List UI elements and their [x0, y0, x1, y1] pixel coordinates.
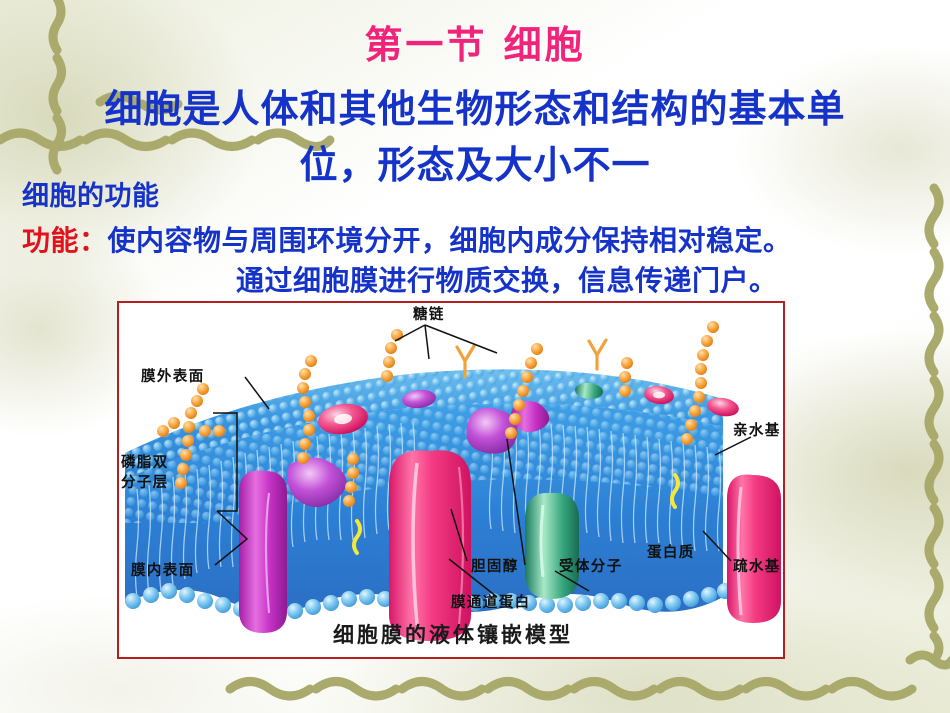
label-phospholipid-bilayer-line2: 分子层	[121, 474, 169, 491]
membrane-protein-green	[525, 493, 579, 599]
membrane-diagram-frame: 膜外表面 磷脂双 分子层 膜内表面 糖链 亲水基 疏水基 胆固醇 受体分子 蛋白…	[117, 301, 785, 659]
body-line-1-text: 使内容物与周围环境分开，细胞内成分保持相对稳定。	[108, 224, 792, 257]
label-glycan-chain: 糖链	[413, 305, 445, 323]
label-inner-surface: 膜内表面	[131, 561, 195, 579]
body-line-2: 通过细胞膜进行物质交换，信息传递门户。	[236, 259, 778, 299]
membrane-channel-protein	[389, 450, 471, 641]
membrane-channel-protein-right	[727, 475, 781, 624]
label-protein: 蛋白质	[647, 543, 695, 561]
body-label: 功能：	[22, 224, 108, 257]
label-cholesterol: 胆固醇	[471, 557, 519, 575]
label-receptor-molecule: 受体分子	[559, 557, 623, 575]
figure-caption: 细胞膜的液体镶嵌模型	[119, 619, 787, 649]
section-heading: 细胞的功能	[22, 174, 160, 213]
label-outer-surface: 膜外表面	[141, 367, 205, 385]
label-hydrophilic-group: 亲水基	[733, 421, 781, 439]
fluid-mosaic-membrane-illustration: 膜外表面 磷脂双 分子层 膜内表面 糖链 亲水基 疏水基 胆固醇 受体分子 蛋白…	[119, 303, 783, 657]
bamboo-decoration-bottom	[228, 667, 918, 707]
label-membrane-channel-protein: 膜通道蛋白	[451, 593, 531, 611]
body-line-1: 功能：使内容物与周围环境分开，细胞内成分保持相对稳定。	[22, 219, 792, 259]
page-title: 第一节 细胞	[0, 14, 950, 69]
slide-canvas: 第一节 细胞 细胞是人体和其他生物形态和结构的基本单 位，形态及大小不一 细胞的…	[0, 0, 950, 713]
subtitle-line-1: 细胞是人体和其他生物形态和结构的基本单	[0, 78, 950, 133]
label-hydrophobic-group: 疏水基	[733, 557, 781, 575]
label-phospholipid-bilayer-line1: 磷脂双	[121, 453, 169, 471]
bamboo-decoration-right	[908, 186, 950, 691]
